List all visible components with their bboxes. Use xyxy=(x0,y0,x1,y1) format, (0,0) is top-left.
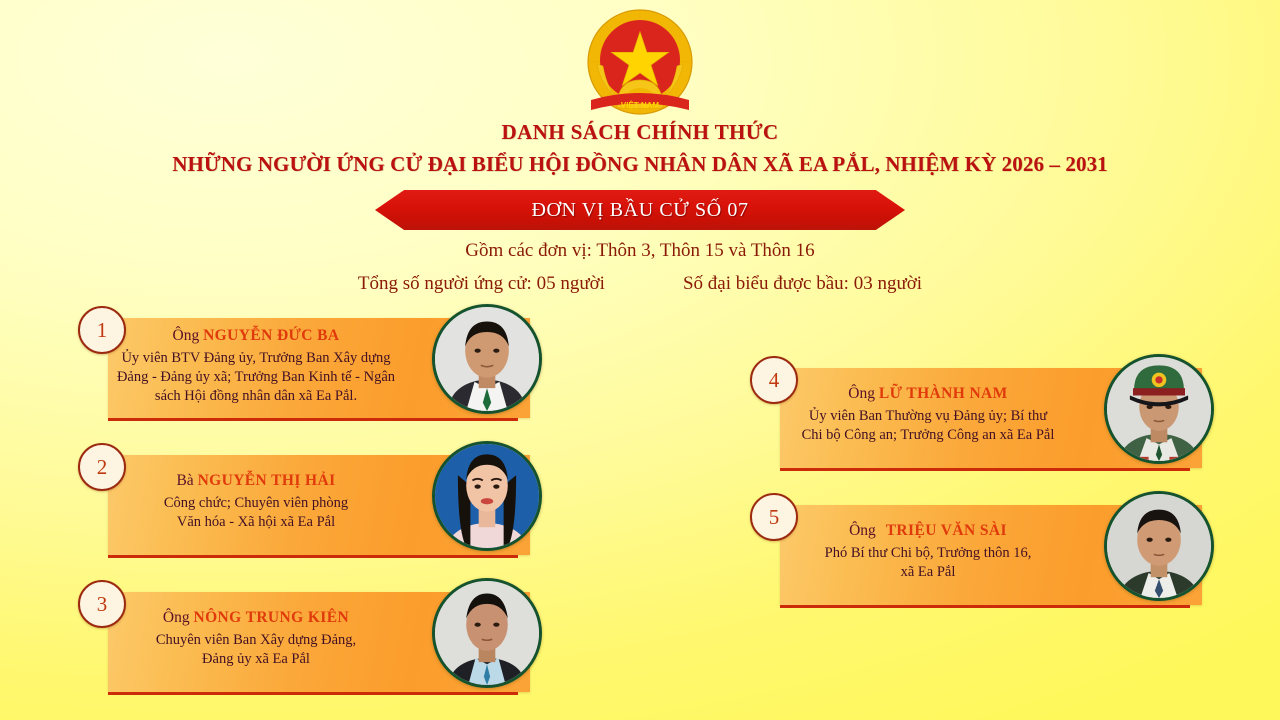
card-bottom-rule xyxy=(108,418,518,421)
poster-stage: VIỆT NAM DANH SÁCH CHÍNH THỨC NHỮNG NGƯỜ… xyxy=(0,0,1280,720)
candidate-card[interactable]: 4 Ông LỮ THÀNH NAM Ủy viên Ban Thường vụ… xyxy=(750,368,1202,472)
candidate-photo[interactable] xyxy=(432,578,542,688)
banner-label: ĐƠN VỊ BẦU CỬ SỐ 07 xyxy=(375,190,905,230)
candidate-role-line: Ủy viên Ban Thường vụ Đảng ủy; Bí thư xyxy=(766,407,1090,426)
candidate-fullname: NGUYỄN ĐỨC BA xyxy=(203,327,339,344)
card-text: Ông LỮ THÀNH NAM Ủy viên Ban Thường vụ Đ… xyxy=(766,384,1090,445)
candidate-honorific: Ông xyxy=(849,522,876,539)
candidate-role-line: Công chức; Chuyên viên phòng xyxy=(94,494,418,513)
candidate-role-line: Chuyên viên Ban Xây dựng Đảng, xyxy=(94,631,418,650)
units-line: Gồm các đơn vị: Thôn 3, Thôn 15 và Thôn … xyxy=(0,240,1280,262)
candidate-role-line: Đảng - Đảng ủy xã; Trưởng Ban Kinh tế - … xyxy=(94,368,418,387)
candidate-fullname: NÔNG TRUNG KIÊN xyxy=(194,609,350,626)
card-text: Ông TRIỆU VĂN SÀI Phó Bí thư Chi bộ, Trư… xyxy=(766,521,1090,582)
portrait-male-police-uniform-cap-icon xyxy=(1107,357,1211,461)
poster-title-line-2: NHỮNG NGƯỜI ỨNG CỬ ĐẠI BIỂU HỘI ĐỒNG NHÂ… xyxy=(0,152,1280,177)
candidate-role-line: Đảng ủy xã Ea Pắl xyxy=(94,650,418,669)
total-candidates: Tổng số người ứng cử: 05 người xyxy=(358,273,605,295)
candidate-name-line: Ông TRIỆU VĂN SÀI xyxy=(766,521,1090,542)
portrait-female-blue-background-icon xyxy=(435,444,539,548)
card-text: Ông NGUYỄN ĐỨC BA Ủy viên BTV Đảng ủy, T… xyxy=(94,326,418,406)
candidate-role-line: Chi bộ Công an; Trưởng Công an xã Ea Pắl xyxy=(766,426,1090,445)
candidate-photo[interactable] xyxy=(1104,354,1214,464)
candidate-role-line: sách Hội đồng nhân dân xã Ea Pắl. xyxy=(94,387,418,406)
vietnam-national-emblem: VIỆT NAM xyxy=(577,4,703,122)
poster-title-line-1: DANH SÁCH CHÍNH THỨC xyxy=(0,120,1280,145)
electoral-unit-banner: ĐƠN VỊ BẦU CỬ SỐ 07 xyxy=(375,190,905,230)
portrait-male-light-blue-shirt-icon xyxy=(435,581,539,685)
card-bottom-rule xyxy=(108,555,518,558)
emblem-icon: VIỆT NAM xyxy=(577,4,703,122)
seats-elected: Số đại biểu được bầu: 03 người xyxy=(683,273,922,295)
card-text: Ông NÔNG TRUNG KIÊN Chuyên viên Ban Xây … xyxy=(94,608,418,669)
candidate-name-line: Ông NGUYỄN ĐỨC BA xyxy=(94,326,418,347)
candidate-fullname: NGUYỄN THỊ HẢI xyxy=(198,472,336,489)
candidate-role-line: Ủy viên BTV Đảng ủy, Trưởng Ban Xây dựng xyxy=(94,349,418,368)
candidate-role-line: Phó Bí thư Chi bộ, Trưởng thôn 16, xyxy=(766,544,1090,563)
emblem-ribbon-text: VIỆT NAM xyxy=(621,101,660,110)
candidate-number-badge: 1 xyxy=(78,306,126,354)
candidate-number-badge: 5 xyxy=(750,493,798,541)
candidate-card[interactable]: 2 Bà NGUYỄN THỊ HẢI Công chức; Chuyên vi… xyxy=(78,455,530,559)
candidate-honorific: Ông xyxy=(163,609,190,626)
candidate-photo[interactable] xyxy=(1104,491,1214,601)
candidate-number-badge: 3 xyxy=(78,580,126,628)
candidate-role-line: xã Ea Pắl xyxy=(766,563,1090,582)
card-text: Bà NGUYỄN THỊ HẢI Công chức; Chuyên viên… xyxy=(94,471,418,532)
candidate-number-badge: 4 xyxy=(750,356,798,404)
candidate-card[interactable]: 5 Ông TRIỆU VĂN SÀI Phó Bí thư Chi bộ, T… xyxy=(750,505,1202,609)
card-bottom-rule xyxy=(780,605,1190,608)
candidate-fullname: TRIỆU VĂN SÀI xyxy=(886,522,1007,539)
candidate-photo[interactable] xyxy=(432,304,542,414)
portrait-male-white-shirt-green-tie-icon xyxy=(435,307,539,411)
candidate-card[interactable]: 3 Ông NÔNG TRUNG KIÊN Chuyên viên Ban Xâ… xyxy=(78,592,530,696)
candidate-name-line: Bà NGUYỄN THỊ HẢI xyxy=(94,471,418,492)
candidate-number-badge: 2 xyxy=(78,443,126,491)
counts-row: Tổng số người ứng cử: 05 người Số đại bi… xyxy=(0,273,1280,295)
candidate-photo[interactable] xyxy=(432,441,542,551)
card-bottom-rule xyxy=(780,468,1190,471)
candidate-fullname: LỮ THÀNH NAM xyxy=(879,385,1008,402)
candidate-honorific: Ông xyxy=(848,385,875,402)
candidate-role-line: Văn hóa - Xã hội xã Ea Pắl xyxy=(94,513,418,532)
candidate-honorific: Bà xyxy=(176,472,193,489)
portrait-male-dark-suit-tie-icon xyxy=(1107,494,1211,598)
card-bottom-rule xyxy=(108,692,518,695)
candidate-name-line: Ông LỮ THÀNH NAM xyxy=(766,384,1090,405)
candidate-card[interactable]: 1 Ông NGUYỄN ĐỨC BA Ủy viên BTV Đảng ủy,… xyxy=(78,318,530,422)
candidate-name-line: Ông NÔNG TRUNG KIÊN xyxy=(94,608,418,629)
candidate-honorific: Ông xyxy=(173,327,200,344)
